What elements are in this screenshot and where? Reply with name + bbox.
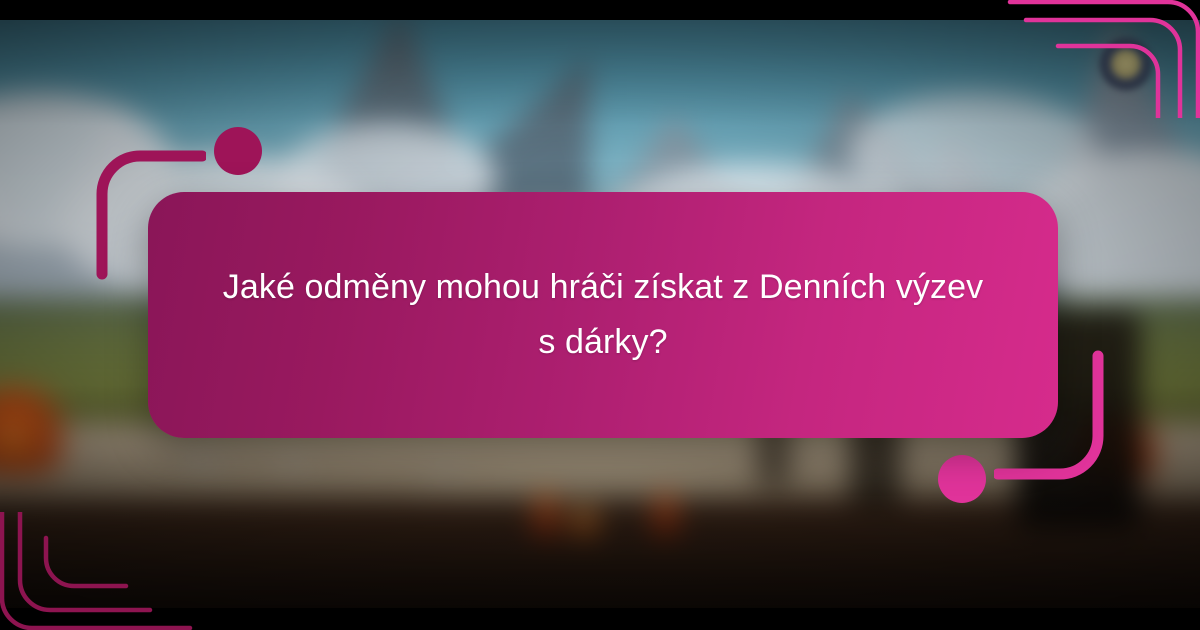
- emblem-icon: [1100, 38, 1152, 90]
- letterbox-bar-top: [0, 0, 1200, 20]
- question-card: Jaké odměny mohou hráči získat z Denních…: [148, 192, 1058, 438]
- accent-dot-left: [214, 127, 262, 175]
- question-text: Jaké odměny mohou hráči získat z Denních…: [212, 260, 994, 370]
- promo-card-screenshot: Jaké odměny mohou hráči získat z Denních…: [0, 0, 1200, 630]
- accent-dot-right: [938, 455, 986, 503]
- letterbox-bar-bottom: [0, 608, 1200, 630]
